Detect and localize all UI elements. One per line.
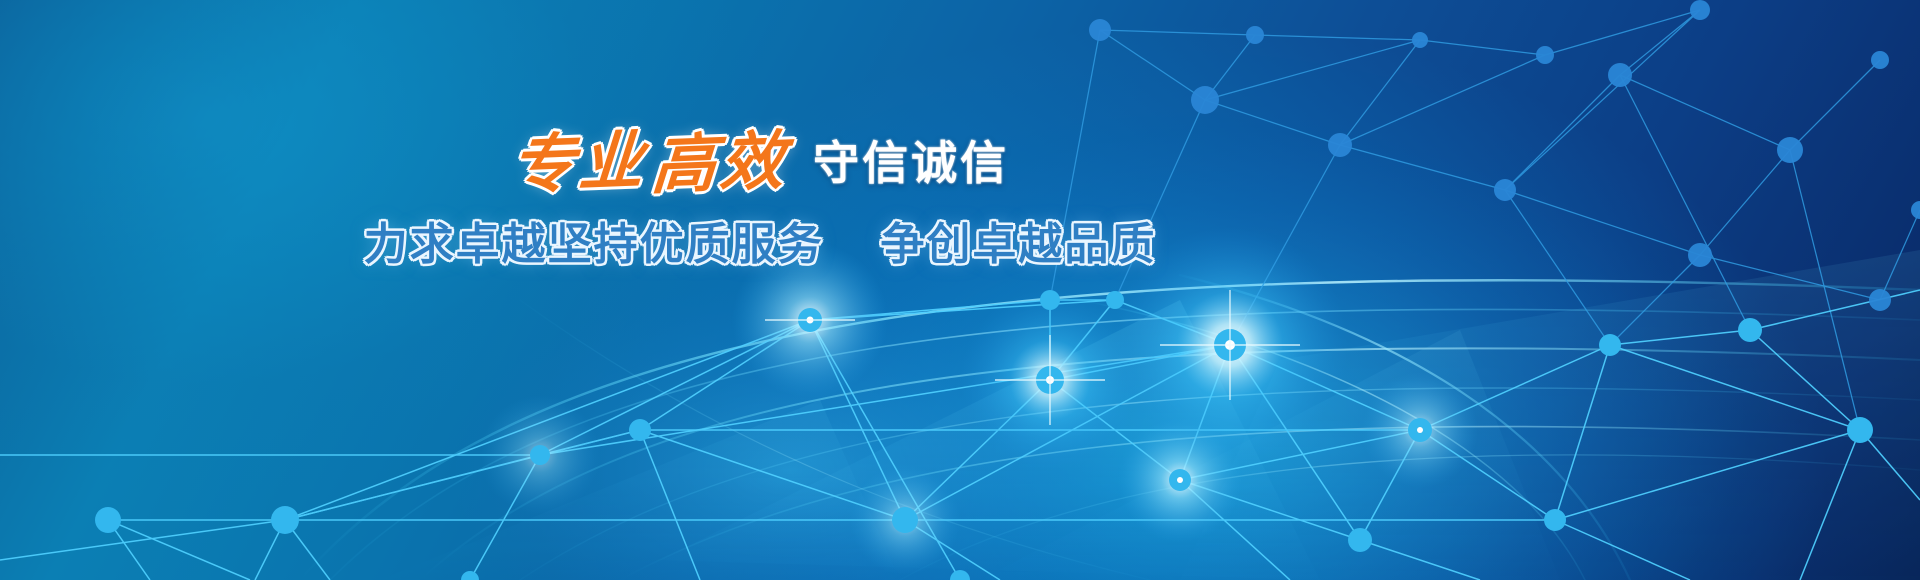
network-graph-layer xyxy=(0,0,1920,580)
node-glow xyxy=(480,227,1478,575)
network-edges-bright xyxy=(0,290,1920,580)
hero-banner: 专业 高效 守信诚信 力求卓越坚持优质服务 争创卓越品质 xyxy=(0,0,1920,580)
